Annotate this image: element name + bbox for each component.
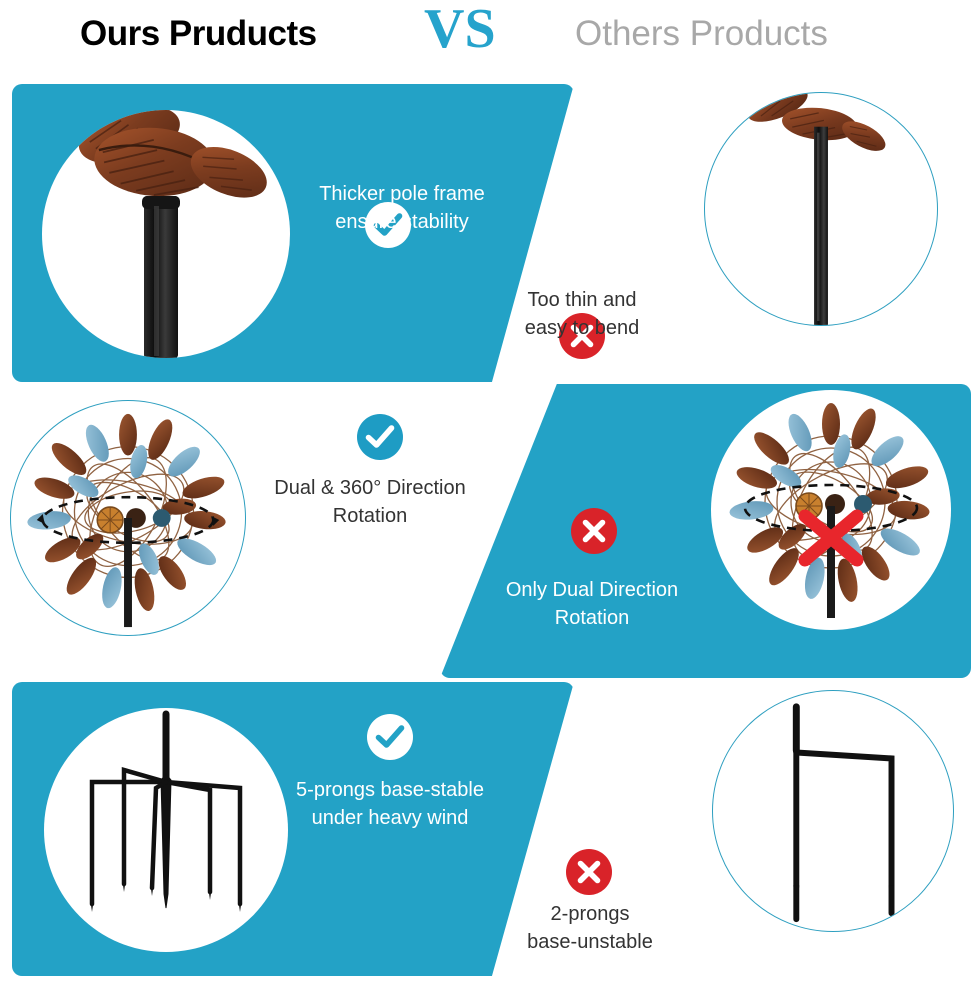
cross-icon (566, 849, 612, 895)
others-image-circle-row2 (711, 390, 951, 630)
others-caption-row2: Only Dual Direction Rotation (476, 576, 708, 633)
header-vs-label: VS (424, 0, 496, 59)
header-others-title: Others Products (575, 14, 828, 54)
thick-pole-photo (42, 110, 290, 358)
ours-caption-row2: Dual & 360° Direction Rotation (248, 474, 492, 531)
ours-image-circle-row1 (42, 110, 290, 358)
comparison-row-rotation: Dual & 360° Direction Rotation Only Dual… (0, 384, 971, 678)
check-icon (357, 414, 403, 460)
header: Ours Pruducts VS Others Products (0, 0, 971, 72)
comparison-infographic: Ours Pruducts VS Others Products (0, 0, 971, 984)
ours-caption-row1: Thicker pole frame ensure stability (292, 180, 512, 237)
others-caption-row1: Too thin and easy to bend (492, 286, 672, 343)
thin-pole-photo (705, 93, 937, 325)
others-caption-row3: 2-prongs base-unstable (504, 900, 676, 957)
others-image-circle-row1 (704, 92, 938, 326)
dual-360-spinner-photo (11, 401, 245, 635)
cross-icon (571, 508, 617, 554)
comparison-row-pole: Thicker pole frame ensure stability Too … (0, 84, 971, 382)
ours-image-circle-row2 (10, 400, 246, 636)
ours-caption-row3: 5-prongs base-stable under heavy wind (276, 776, 504, 833)
dual-only-spinner-photo (711, 390, 951, 630)
others-image-circle-row3 (712, 690, 954, 932)
five-prong-base-photo (44, 708, 288, 952)
check-icon (367, 714, 413, 760)
header-ours-title: Ours Pruducts (80, 14, 317, 54)
ours-image-circle-row3 (44, 708, 288, 952)
comparison-row-base: 5-prongs base-stable under heavy wind 2-… (0, 682, 971, 976)
two-prong-base-photo (713, 691, 953, 931)
